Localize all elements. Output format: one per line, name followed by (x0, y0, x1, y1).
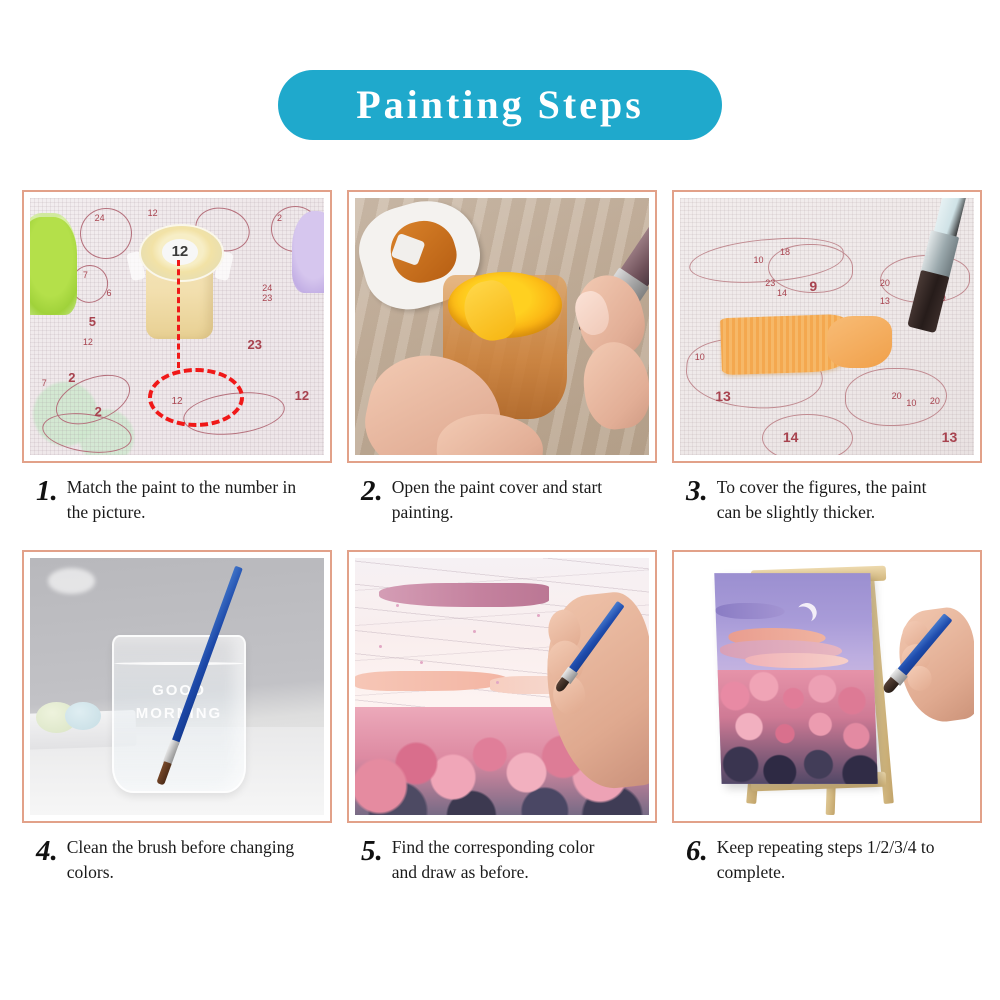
step-2-photo-frame (347, 190, 657, 463)
canvas-number: 6 (106, 288, 111, 298)
canvas-number: 23 (262, 293, 272, 303)
step-card-5: 5. Find the corresponding color and draw… (347, 550, 657, 886)
title-pill: Painting Steps (278, 70, 722, 140)
brush-painting-canvas-photo: 10 18 23 14 9 20 13 19 10 20 13 20 10 20… (680, 198, 974, 455)
step-description: To cover the figures, the paint can be s… (717, 475, 947, 526)
step-number: 3. (686, 477, 708, 506)
canvas-number: 13 (942, 429, 958, 445)
step-description: Find the corresponding color and draw as… (392, 835, 622, 886)
canvas-number: 23 (248, 337, 262, 352)
canvas-number: 12 (83, 337, 93, 347)
step-card-4: GOOD MORNING 4. Clean the brush before c… (22, 550, 332, 886)
canvas-number: 20 (892, 391, 902, 401)
page-title: Painting Steps (356, 85, 644, 125)
canvas-number: 2 (95, 404, 102, 419)
step-3-caption: 3. To cover the figures, the paint can b… (672, 475, 982, 526)
step-card-2: 2. Open the paint cover and start painti… (347, 190, 657, 526)
canvas-number: 7 (42, 378, 47, 388)
canvas-number: 5 (89, 314, 96, 329)
canvas-number: 10 (695, 352, 705, 362)
partially-painted-canvas-photo (355, 558, 649, 815)
canvas-number: 20 (880, 278, 890, 288)
background-blur-object (48, 568, 95, 594)
step-card-3: 10 18 23 14 9 20 13 19 10 20 13 20 10 20… (672, 190, 982, 526)
open-paint-pot-photo (355, 198, 649, 455)
paint-pot-number-match-photo: 12 24 2 7 6 5 12 2 7 2 23 24 23 12 (30, 198, 324, 455)
page-header: Painting Steps (0, 70, 1000, 140)
background-object (65, 702, 100, 730)
painted-cherry-blossoms (715, 670, 878, 784)
red-dashed-pointer-line (177, 260, 180, 368)
step-number: 5. (361, 837, 383, 866)
painted-cloud (745, 653, 848, 668)
step-number: 4. (36, 837, 58, 866)
paint-dot (379, 645, 382, 648)
step-card-1: 12 24 2 7 6 5 12 2 7 2 23 24 23 12 (22, 190, 332, 526)
step-4-photo-frame: GOOD MORNING (22, 550, 332, 823)
painted-cloud-band (379, 583, 550, 606)
canvas-number: 20 (930, 396, 940, 406)
painted-cloud (716, 603, 785, 620)
step-6-caption: 6. Keep repeating steps 1/2/3/4 to compl… (672, 835, 982, 886)
canvas-number: 24 (262, 283, 272, 293)
canvas-number: 23 (765, 278, 775, 288)
orange-paint-stroke (827, 316, 892, 367)
canvas-number: 2 (68, 370, 75, 385)
canvas-number: 13 (880, 296, 890, 306)
canvas-region-outline (762, 414, 852, 455)
finished-painting-on-easel-photo (680, 558, 974, 815)
step-5-photo-frame (347, 550, 657, 823)
purple-paint-pot (292, 211, 324, 293)
canvas-number: 24 (95, 213, 105, 223)
brush-in-water-glass-photo: GOOD MORNING (30, 558, 324, 815)
step-description: Clean the brush before changing colors. (67, 835, 297, 886)
step-description: Keep repeating steps 1/2/3/4 to complete… (717, 835, 947, 886)
canvas-number: 10 (906, 398, 916, 408)
step-3-photo-frame: 10 18 23 14 9 20 13 19 10 20 13 20 10 20… (672, 190, 982, 463)
target-region-number: 12 (171, 396, 182, 407)
crescent-moon-icon (794, 600, 820, 624)
green-paint-pot (30, 213, 77, 315)
finished-painting-canvas (714, 573, 877, 784)
step-2-caption: 2. Open the paint cover and start painti… (347, 475, 657, 526)
step-4-caption: 4. Clean the brush before changing color… (22, 835, 332, 886)
canvas-number: 12 (295, 388, 309, 403)
water-surface-line (114, 662, 243, 665)
canvas-number: 13 (715, 388, 731, 404)
brush-bristles (155, 761, 171, 786)
red-dashed-target-ellipse (148, 368, 244, 427)
canvas-number: 14 (783, 429, 799, 445)
step-description: Open the paint cover and start painting. (392, 475, 622, 526)
step-6-photo-frame (672, 550, 982, 823)
canvas-number: 7 (83, 270, 88, 280)
steps-grid: 12 24 2 7 6 5 12 2 7 2 23 24 23 12 (22, 190, 982, 886)
canvas-number: 18 (780, 247, 790, 257)
step-description: Match the paint to the number in the pic… (67, 475, 297, 526)
step-number: 1. (36, 477, 58, 506)
paint-dot (420, 661, 423, 664)
brush-bristles (907, 270, 948, 333)
step-5-caption: 5. Find the corresponding color and draw… (347, 835, 657, 886)
paint-dot (473, 630, 476, 633)
step-1-photo-frame: 12 24 2 7 6 5 12 2 7 2 23 24 23 12 (22, 190, 332, 463)
canvas-number: 9 (809, 278, 817, 294)
step-1-caption: 1. Match the paint to the number in the … (22, 475, 332, 526)
step-number: 6. (686, 837, 708, 866)
step-number: 2. (361, 477, 383, 506)
step-card-6: 6. Keep repeating steps 1/2/3/4 to compl… (672, 550, 982, 886)
canvas-number: 10 (754, 255, 764, 265)
canvas-number: 14 (777, 288, 787, 298)
canvas-number: 2 (277, 213, 282, 223)
